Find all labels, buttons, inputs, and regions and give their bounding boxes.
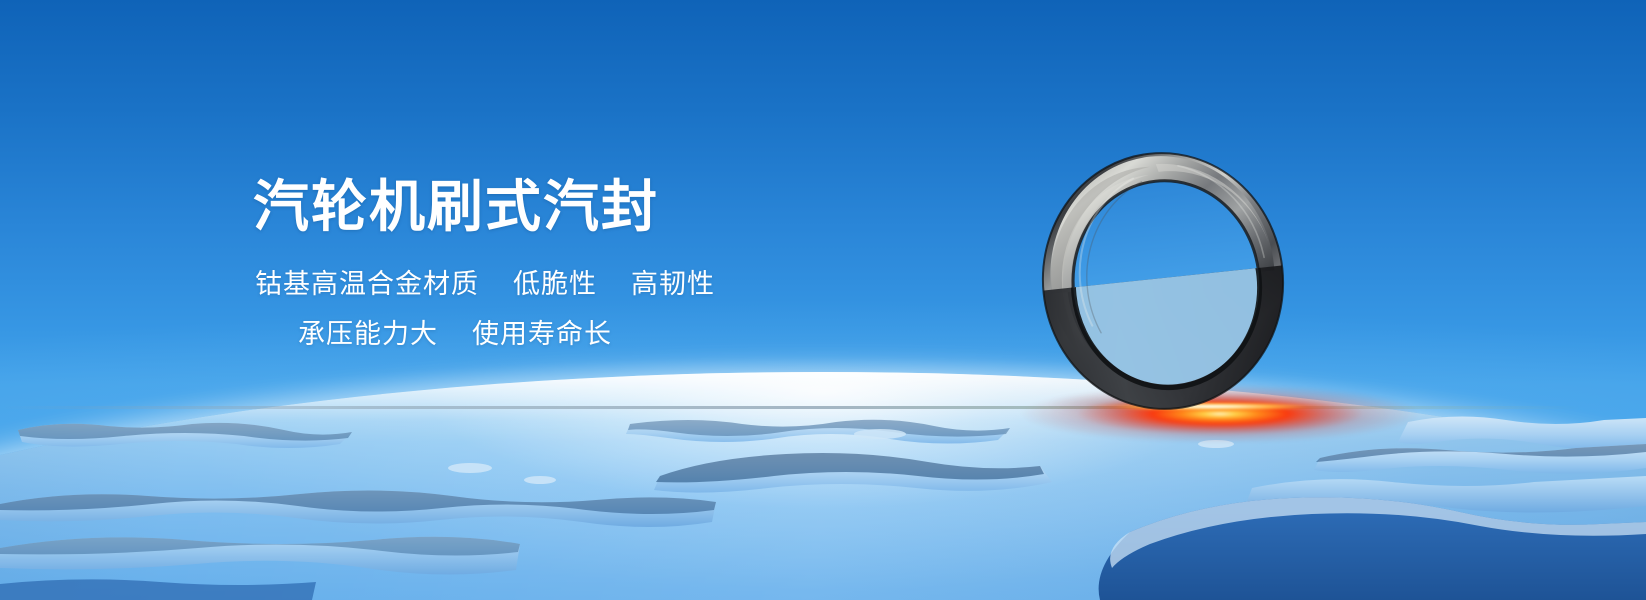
hero-banner: 汽轮机刷式汽封 钴基高温合金材质 低脆性 高韧性 承压能力大 使用寿命长 <box>0 0 1646 600</box>
horizon-line <box>0 406 1646 409</box>
subtitle-line-1: 钴基高温合金材质 低脆性 高韧性 <box>255 268 715 300</box>
page-title: 汽轮机刷式汽封 <box>253 177 659 237</box>
subtitle-line-2: 承压能力大 使用寿命长 <box>298 318 612 350</box>
brush-seal-ring-image <box>1040 150 1286 412</box>
